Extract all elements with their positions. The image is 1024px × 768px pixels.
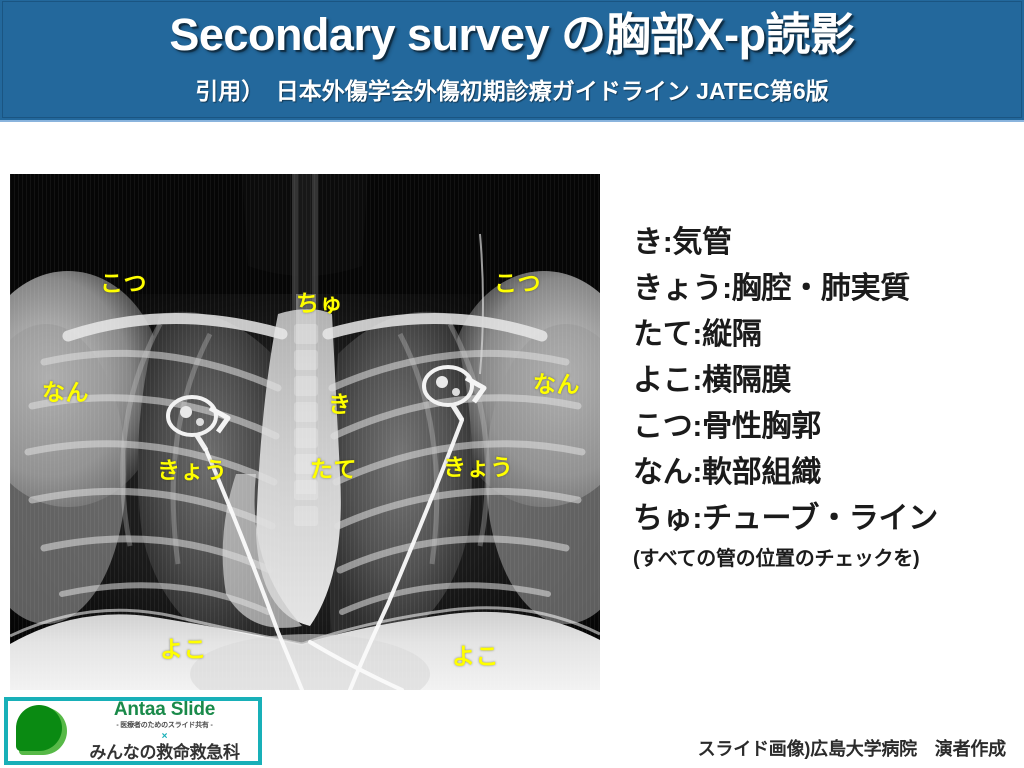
- xray-label-tate: たて: [310, 458, 357, 481]
- logo-cross-mark: ×: [75, 731, 254, 743]
- footer-credit: スライド画像)広島大学病院 演者作成: [698, 735, 1006, 761]
- xray-label-kyou-right: きょう: [443, 456, 514, 479]
- xray-label-nan-left: なん: [42, 381, 89, 404]
- legend-item-chu: ちゅ:チューブ・ライン: [633, 496, 1018, 542]
- xray-label-kotsu-right: こつ: [494, 272, 541, 295]
- logo-tagline: - 医療者のためのスライド共有 -: [75, 720, 254, 731]
- anatomy-legend-list: き:気管 きょう:胸腔・肺実質 たて:縦隔 よこ:横隔膜 こつ:骨性胸郭 なん:…: [633, 220, 1018, 576]
- xray-label-kotsu-left: こつ: [100, 272, 147, 295]
- slide-title: Secondary survey の胸部X-p読影: [0, 6, 1024, 64]
- slide-header-banner: Secondary survey の胸部X-p読影 引用） 日本外傷学会外傷初期…: [0, 0, 1024, 122]
- leaf-icon: [13, 704, 75, 758]
- xray-label-chu: ちゅ: [296, 292, 343, 315]
- slide-subtitle-citation: 引用） 日本外傷学会外傷初期診療ガイドライン JATEC第6版: [0, 76, 1024, 106]
- legend-note: (すべての管の位置のチェックを): [633, 542, 1018, 576]
- legend-item-tate: たて:縦隔: [633, 312, 1018, 358]
- legend-item-kyou: きょう:胸腔・肺実質: [633, 266, 1018, 312]
- logo-partner-name: みんなの救命救急科: [75, 743, 254, 763]
- legend-item-kotsu: こつ:骨性胸郭: [633, 404, 1018, 450]
- legend-item-ki: き:気管: [633, 220, 1018, 266]
- chest-xray-image: こつ ちゅ こつ なん き なん きょう たて きょう よこ よこ: [10, 174, 600, 690]
- logo-text-block: Antaa Slide - 医療者のためのスライド共有 - × みんなの救命救急…: [75, 700, 258, 763]
- legend-item-yoko: よこ:横隔膜: [633, 358, 1018, 404]
- antaa-slide-logo: Antaa Slide - 医療者のためのスライド共有 - × みんなの救命救急…: [4, 697, 262, 765]
- legend-item-nan: なん:軟部組織: [633, 450, 1018, 496]
- xray-label-yoko-right: よこ: [452, 645, 499, 668]
- xray-label-ki: き: [328, 393, 352, 416]
- chest-xray-radiograph: [10, 174, 600, 690]
- xray-label-yoko-left: よこ: [160, 638, 207, 661]
- xray-label-kyou-left: きょう: [157, 459, 228, 482]
- xray-label-nan-right: なん: [533, 373, 580, 396]
- logo-brand-name: Antaa Slide: [75, 700, 254, 720]
